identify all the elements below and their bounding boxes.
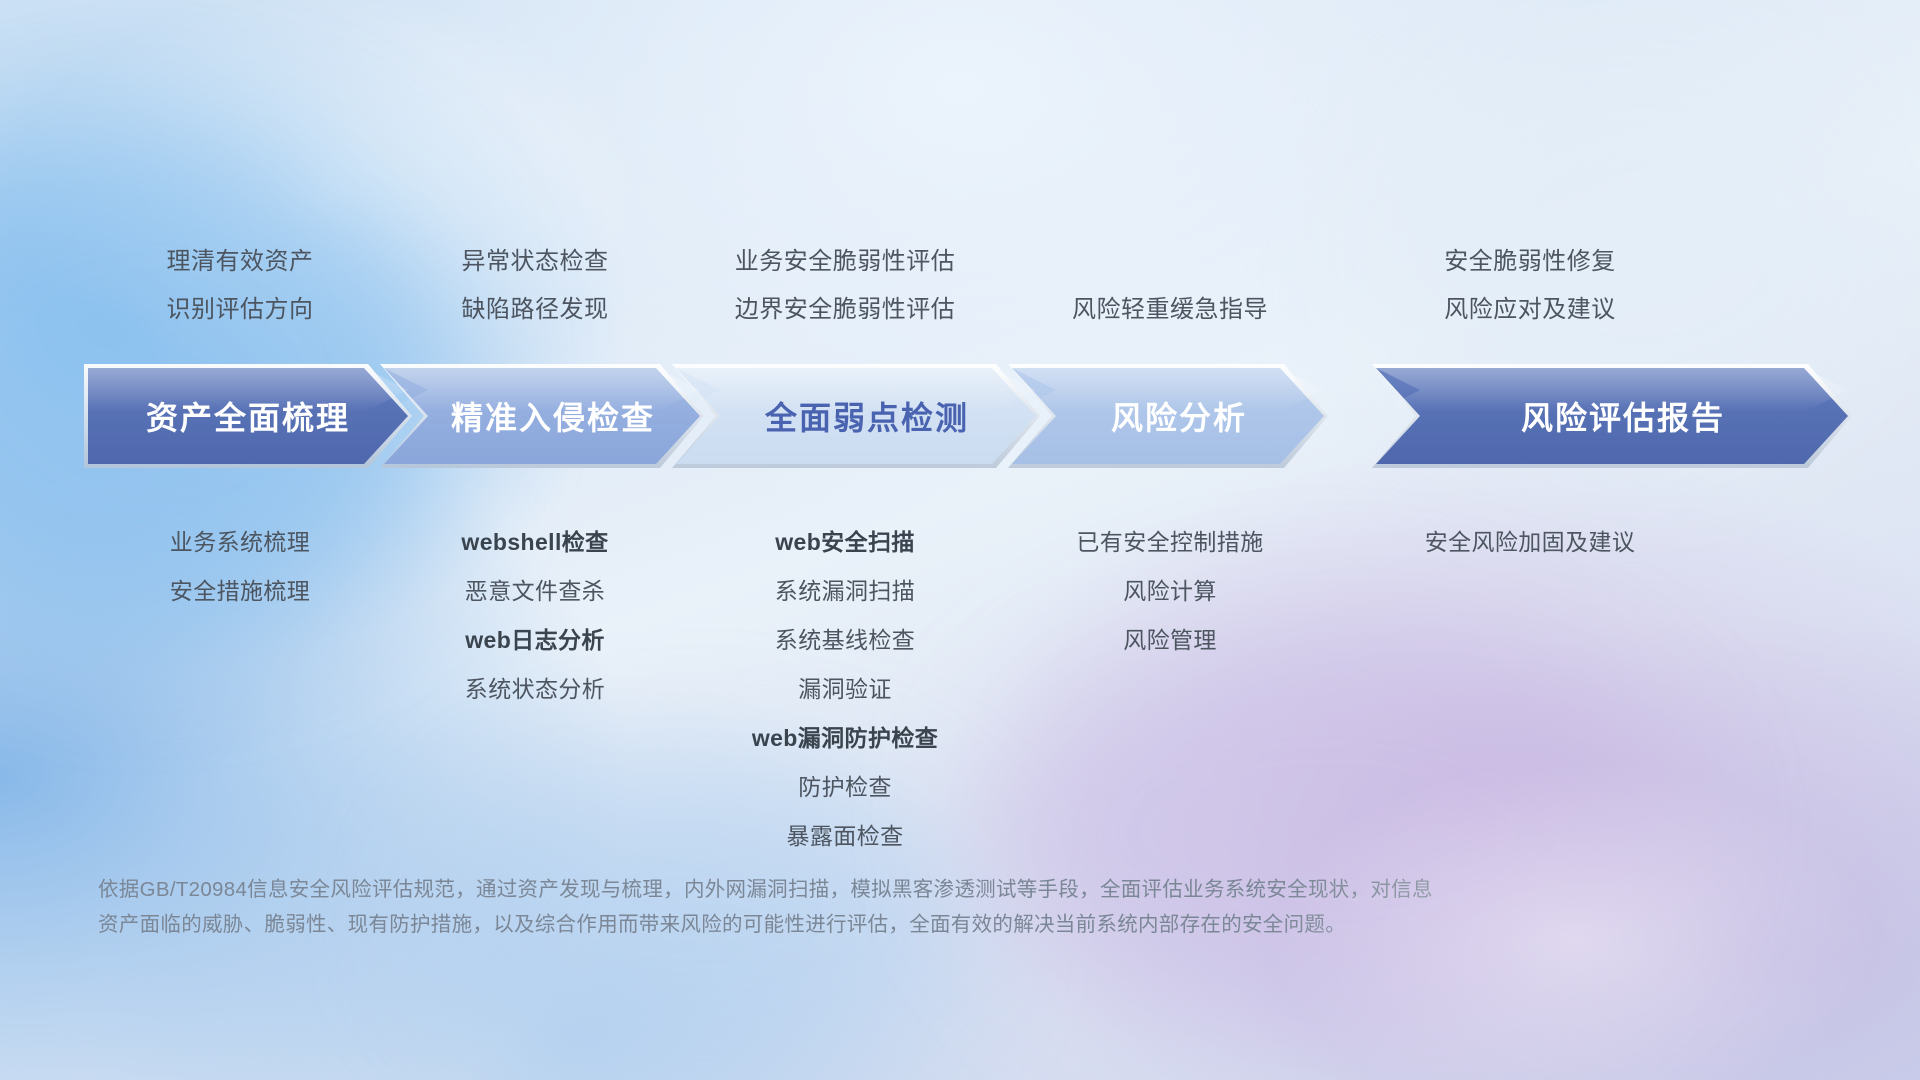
stage-chevron-weakness-detection[interactable]: 全面弱点检测 bbox=[676, 368, 1036, 464]
bottom-item: 防护检查 bbox=[680, 763, 1010, 812]
bottom-item: 风险管理 bbox=[1010, 616, 1330, 665]
footer-line-2: 资产面临的威胁、脆弱性、现有防护措施，以及综合作用而带来风险的可能性进行评估，全… bbox=[98, 907, 1628, 942]
chevron-label: 资产全面梳理 bbox=[146, 393, 350, 439]
chevron-label: 风险分析 bbox=[1089, 393, 1247, 439]
background-glow-purple bbox=[980, 620, 1680, 1040]
top-item: 风险轻重缓急指导 bbox=[1010, 286, 1330, 334]
top-item: 边界安全脆弱性评估 bbox=[680, 286, 1010, 334]
bottom-item: 安全风险加固及建议 bbox=[1330, 518, 1730, 567]
bottom-item: 系统状态分析 bbox=[390, 665, 680, 714]
bottom-item: web漏洞防护检查 bbox=[680, 714, 1010, 763]
bottom-item: 系统漏洞扫描 bbox=[680, 567, 1010, 616]
stage-chevron-risk-report[interactable]: 风险评估报告 bbox=[1376, 368, 1848, 464]
top-item: 风险应对及建议 bbox=[1330, 286, 1730, 334]
top-item: 识别评估方向 bbox=[90, 286, 390, 334]
stage-chevron-risk-analysis[interactable]: 风险分析 bbox=[1012, 368, 1324, 464]
bottom-item: 恶意文件查杀 bbox=[390, 567, 680, 616]
top-item: 异常状态检查 bbox=[390, 238, 680, 286]
footer-line-1: 依据GB/T20984信息安全风险评估规范，通过资产发现与梳理，内外网漏洞扫描，… bbox=[98, 872, 1628, 907]
bottom-item: web安全扫描 bbox=[680, 518, 1010, 567]
top-item: 业务安全脆弱性评估 bbox=[680, 238, 1010, 286]
bottom-item: 暴露面检查 bbox=[680, 812, 1010, 861]
bottom-item: 风险计算 bbox=[1010, 567, 1330, 616]
process-chevron-band: 资产全面梳理精准入侵检查全面弱点检测风险分析风险评估报告 bbox=[88, 368, 1848, 464]
slide-canvas: 理清有效资产识别评估方向 异常状态检查缺陷路径发现 业务安全脆弱性评估边界安全脆… bbox=[0, 0, 1920, 1080]
bottom-item: webshell检查 bbox=[390, 518, 680, 567]
top-item: 安全脆弱性修复 bbox=[1330, 238, 1730, 286]
bottom-item: web日志分析 bbox=[390, 616, 680, 665]
chevron-label: 全面弱点检测 bbox=[743, 393, 969, 439]
stage-chevron-intrusion-check[interactable]: 精准入侵检查 bbox=[384, 368, 700, 464]
top-item: 理清有效资产 bbox=[90, 238, 390, 286]
footer-description: 依据GB/T20984信息安全风险评估规范，通过资产发现与梳理，内外网漏洞扫描，… bbox=[98, 872, 1628, 942]
bottom-item: 漏洞验证 bbox=[680, 665, 1010, 714]
bottom-item: 已有安全控制措施 bbox=[1010, 518, 1330, 567]
bottom-item: 业务系统梳理 bbox=[90, 518, 390, 567]
top-item: 缺陷路径发现 bbox=[390, 286, 680, 334]
bottom-item: 安全措施梳理 bbox=[90, 567, 390, 616]
bottom-item: 系统基线检查 bbox=[680, 616, 1010, 665]
chevron-label: 精准入侵检查 bbox=[429, 393, 655, 439]
stage-chevron-asset-inventory[interactable]: 资产全面梳理 bbox=[88, 368, 408, 464]
chevron-label: 风险评估报告 bbox=[1499, 393, 1725, 439]
